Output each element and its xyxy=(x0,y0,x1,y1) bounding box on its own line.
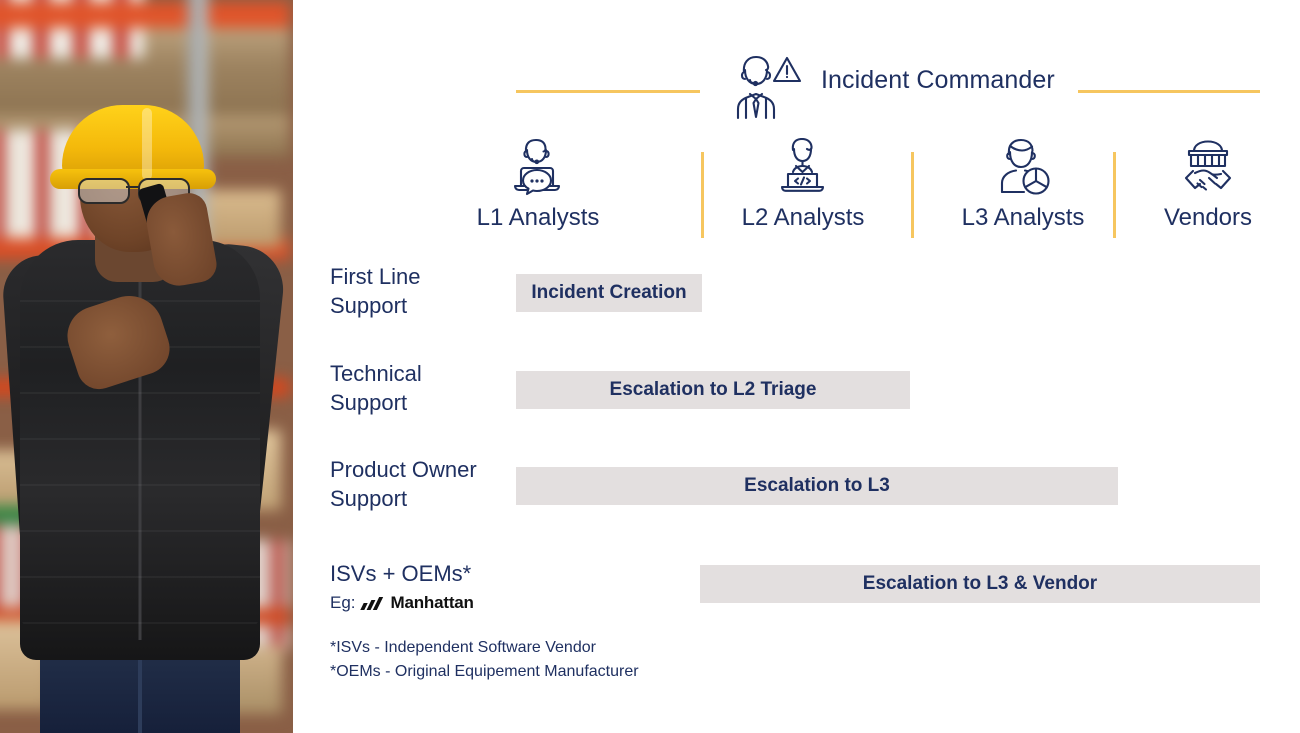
l3-analyst-piechart-icon xyxy=(938,136,1108,196)
row-label-product-owner-support: Product Owner Support xyxy=(330,455,477,513)
column-divider xyxy=(701,152,704,238)
row-first-line-support: First Line Support Incident Creation xyxy=(293,250,1300,345)
column-vendors[interactable]: Vendors xyxy=(1123,136,1293,232)
footnote-isvs: *ISVs - Independent Software Vendor xyxy=(330,636,639,660)
column-label-l2: L2 Analysts xyxy=(718,204,888,232)
vendor-handshake-shop-icon xyxy=(1123,136,1293,196)
yellow-hard-hat-icon xyxy=(62,105,204,183)
hard-hat-ridge xyxy=(142,108,152,180)
divider-line-left xyxy=(516,90,700,93)
column-label-l1: L1 Analysts xyxy=(453,204,623,232)
escalation-diagram: Incident Commander xyxy=(293,0,1300,733)
column-l1-analysts[interactable]: L1 Analysts xyxy=(453,136,623,232)
l2-developer-code-laptop-icon xyxy=(718,136,888,196)
bar-label: Escalation to L3 xyxy=(744,475,890,497)
incident-commander-row: Incident Commander xyxy=(293,50,1300,120)
bar-label: Escalation to L3 & Vendor xyxy=(863,573,1097,595)
bar-label: Escalation to L2 Triage xyxy=(610,379,817,401)
incident-commander-label: Incident Commander xyxy=(821,66,1055,95)
manhattan-logo-icon xyxy=(362,597,384,610)
worker-figure xyxy=(0,0,293,733)
row-label-first-line-support: First Line Support xyxy=(330,262,420,320)
column-divider xyxy=(1113,152,1116,238)
row-label-technical-support: Technical Support xyxy=(330,359,422,417)
incident-commander-icon xyxy=(730,50,806,120)
row-product-owner-support: Product Owner Support Escalation to L3 xyxy=(293,442,1300,537)
row-label-isvs-oems: ISVs + OEMs* xyxy=(330,559,471,588)
row-technical-support: Technical Support Escalation to L2 Triag… xyxy=(293,346,1300,441)
analyst-columns: L1 Analysts xyxy=(293,136,1300,241)
footnote-oems: *OEMs - Original Equipement Manufacturer xyxy=(330,660,639,684)
glasses-lens-left xyxy=(78,178,130,204)
example-prefix: Eg: xyxy=(330,593,356,613)
column-l2-analysts[interactable]: L2 Analysts xyxy=(718,136,888,232)
column-label-vendors: Vendors xyxy=(1123,204,1293,232)
slide-root: Incident Commander xyxy=(0,0,1300,733)
divider-line-right xyxy=(1078,90,1260,93)
manhattan-wordmark: Manhattan xyxy=(391,593,474,613)
column-label-l3: L3 Analysts xyxy=(938,204,1108,232)
bar-label: Incident Creation xyxy=(531,282,686,304)
footnotes: *ISVs - Independent Software Vendor *OEM… xyxy=(330,636,639,684)
column-divider xyxy=(911,152,914,238)
bar-incident-creation[interactable]: Incident Creation xyxy=(516,274,702,312)
example-vendor-line: Eg: Manhattan xyxy=(330,593,474,613)
bar-escalation-l2-triage[interactable]: Escalation to L2 Triage xyxy=(516,371,910,409)
bar-escalation-l3-vendor[interactable]: Escalation to L3 & Vendor xyxy=(700,565,1260,603)
warehouse-worker-photo xyxy=(0,0,293,733)
bar-escalation-l3[interactable]: Escalation to L3 xyxy=(516,467,1118,505)
column-l3-analysts[interactable]: L3 Analysts xyxy=(938,136,1108,232)
l1-agent-laptop-chat-icon xyxy=(453,136,623,196)
